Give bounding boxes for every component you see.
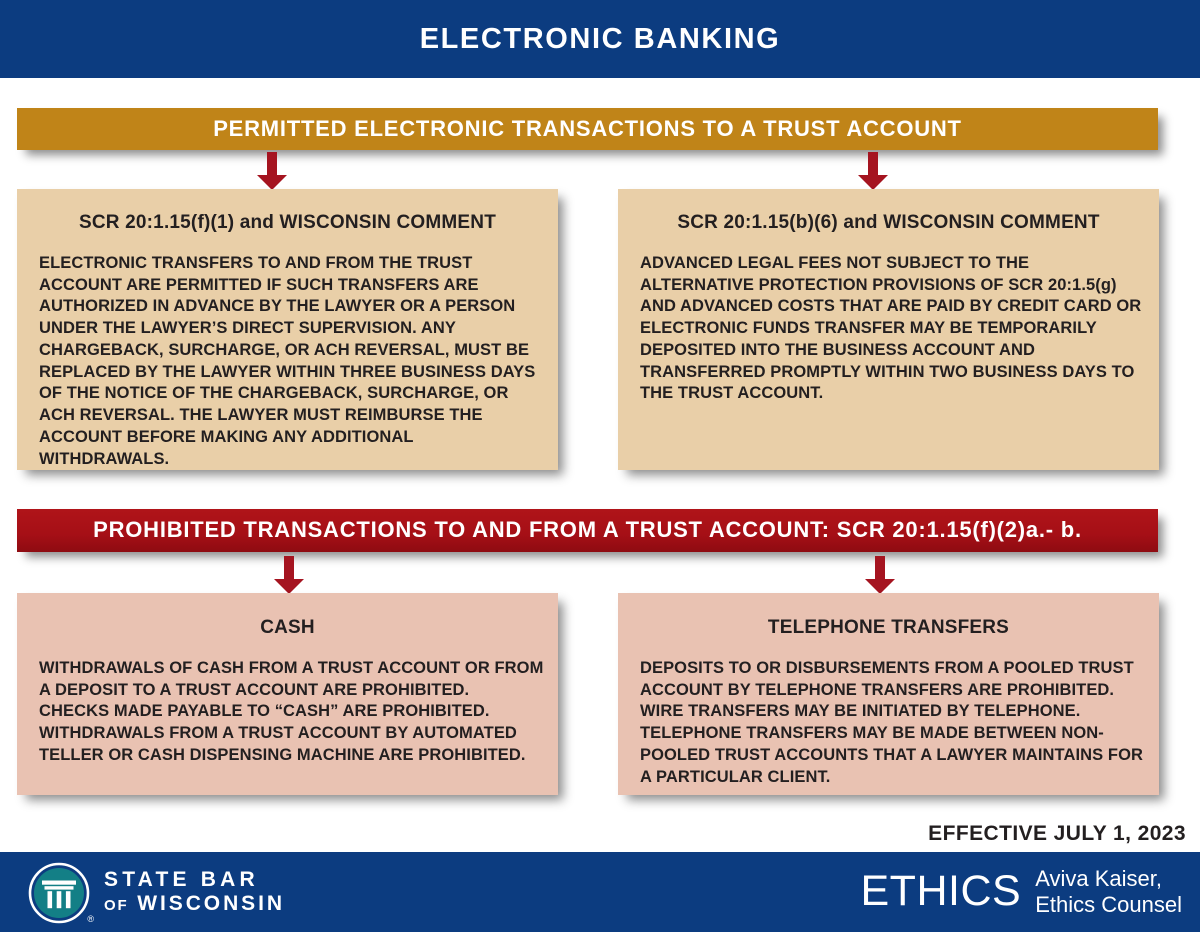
card-body: DEPOSITS TO OR DISBURSEMENTS FROM A POOL…	[618, 640, 1159, 789]
infographic-poster: ELECTRONIC BANKING PERMITTED ELECTRONIC …	[0, 0, 1200, 932]
down-arrow-icon	[272, 556, 306, 594]
card-body: WITHDRAWALS OF CASH FROM A TRUST ACCOUNT…	[17, 640, 558, 767]
card-permitted-scr-f1: SCR 20:1.15(f)(1) and WISCONSIN COMMENT …	[17, 189, 558, 470]
footer-ethics-group: ETHICS Aviva Kaiser, Ethics Counsel	[860, 866, 1182, 918]
card-prohibited-cash: CASH WITHDRAWALS OF CASH FROM A TRUST AC…	[17, 593, 558, 795]
registered-trademark-mark: ®	[87, 915, 94, 924]
footer-brand-group: ® STATE BAR OF WISCONSIN	[28, 862, 285, 924]
down-arrow-icon	[863, 556, 897, 594]
card-heading: SCR 20:1.15(f)(1) and WISCONSIN COMMENT	[17, 189, 558, 235]
card-heading: TELEPHONE TRANSFERS	[618, 593, 1159, 640]
card-body: ELECTRONIC TRANSFERS TO AND FROM THE TRU…	[17, 235, 558, 471]
section-banner-permitted: PERMITTED ELECTRONIC TRANSACTIONS TO A T…	[17, 108, 1158, 150]
page-title: ELECTRONIC BANKING	[420, 23, 781, 56]
wordmark-wisconsin: WISCONSIN	[137, 892, 285, 915]
state-bar-wordmark: STATE BAR OF WISCONSIN	[104, 868, 285, 917]
card-heading: CASH	[17, 593, 558, 640]
page-title-bar: ELECTRONIC BANKING	[0, 0, 1200, 78]
down-arrow-icon	[255, 152, 289, 190]
wordmark-line-1: STATE BAR	[104, 868, 285, 892]
wordmark-line-2: OF WISCONSIN	[104, 892, 285, 916]
ethics-label: ETHICS	[860, 870, 1021, 913]
card-body: ADVANCED LEGAL FEES NOT SUBJECT TO THE A…	[618, 235, 1159, 405]
section-banner-prohibited-label: PROHIBITED TRANSACTIONS TO AND FROM A TR…	[93, 518, 1082, 542]
card-permitted-scr-b6: SCR 20:1.15(b)(6) and WISCONSIN COMMENT …	[618, 189, 1159, 470]
section-banner-prohibited: PROHIBITED TRANSACTIONS TO AND FROM A TR…	[17, 509, 1158, 552]
wordmark-of: OF	[104, 897, 128, 914]
section-banner-permitted-label: PERMITTED ELECTRONIC TRANSACTIONS TO A T…	[213, 117, 962, 141]
effective-date: EFFECTIVE JULY 1, 2023	[928, 822, 1186, 846]
card-heading: SCR 20:1.15(b)(6) and WISCONSIN COMMENT	[618, 189, 1159, 235]
ethics-counsel-name: Aviva Kaiser,	[1035, 866, 1182, 892]
card-prohibited-telephone-transfers: TELEPHONE TRANSFERS DEPOSITS TO OR DISBU…	[618, 593, 1159, 795]
ethics-counsel-credit: Aviva Kaiser, Ethics Counsel	[1035, 866, 1182, 918]
footer-bar: ® STATE BAR OF WISCONSIN ETHICS Aviva Ka…	[0, 852, 1200, 932]
down-arrow-icon	[856, 152, 890, 190]
ethics-counsel-title: Ethics Counsel	[1035, 892, 1182, 918]
state-bar-pillar-logo-icon: ®	[28, 862, 90, 924]
